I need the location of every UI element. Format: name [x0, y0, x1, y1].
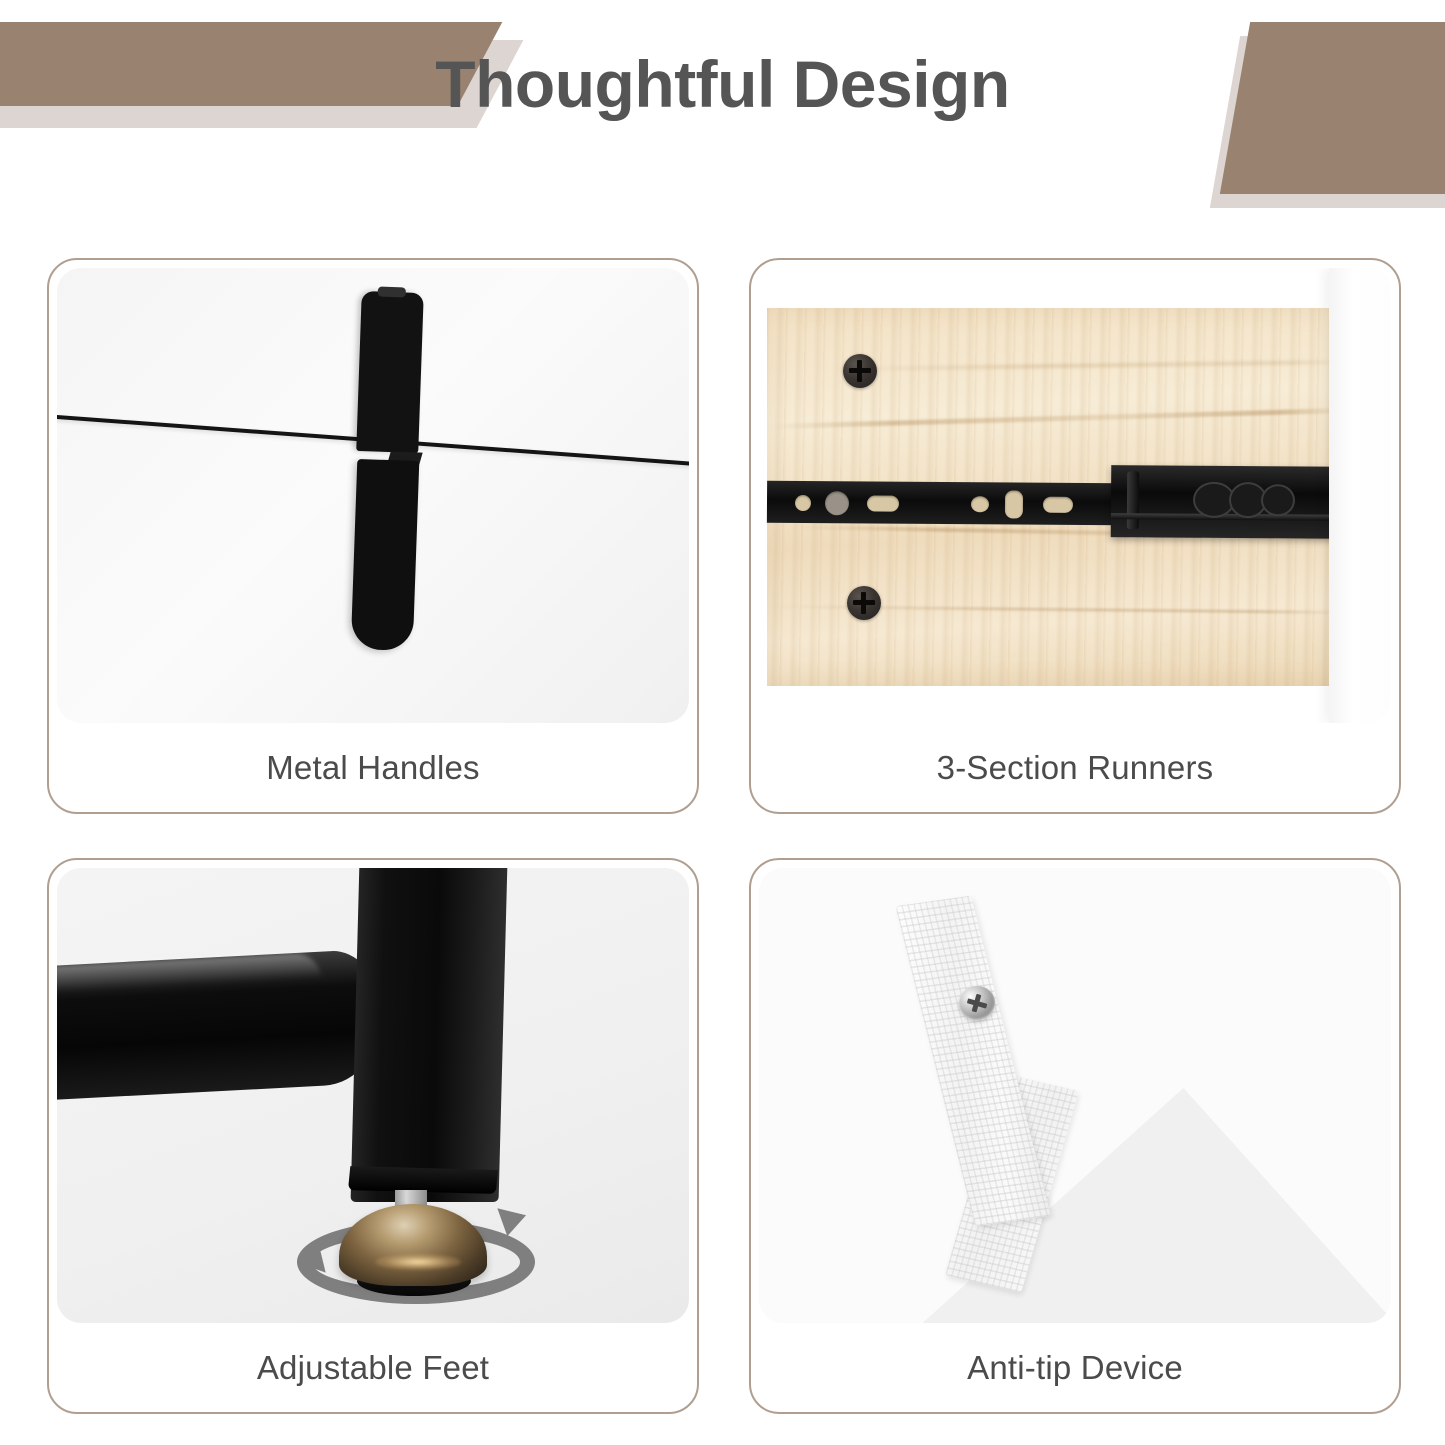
drawer-front-edge	[1329, 268, 1391, 723]
metal-handle-photo	[57, 268, 689, 723]
feature-card-caption: 3-Section Runners	[751, 723, 1399, 812]
feature-card-3-section-runners[interactable]: 3-Section Runners	[749, 258, 1401, 814]
drawer-runner-photo	[759, 268, 1391, 723]
page-title: Thoughtful Design	[0, 46, 1445, 122]
handle-lower-part-icon	[351, 459, 420, 651]
rail-hole	[795, 495, 811, 511]
runner-bearing	[1261, 484, 1295, 516]
runner-outer-rail	[1111, 465, 1363, 539]
furniture-leg	[351, 868, 508, 1202]
wood-grain-line	[767, 408, 1349, 429]
phillips-screw-icon	[847, 586, 881, 620]
rail-hole	[971, 496, 989, 512]
feature-card-caption: Adjustable Feet	[49, 1323, 697, 1412]
runner-inner-rail	[767, 481, 1119, 525]
rail-screw-hole	[825, 491, 849, 515]
foot-gloss-highlight	[375, 1254, 461, 1270]
feature-card-caption: Metal Handles	[49, 723, 697, 812]
runner-lock-tab	[1127, 471, 1139, 529]
rail-slot	[1043, 497, 1073, 513]
feature-card-grid: Metal Handles	[47, 258, 1401, 1413]
handle-upper-part-icon	[356, 291, 424, 453]
feature-card-adjustable-feet[interactable]: Adjustable Feet	[47, 858, 699, 1414]
anti-tip-strap-upper	[895, 896, 1051, 1227]
phillips-screw-icon	[843, 354, 877, 388]
feature-card-caption: Anti-tip Device	[751, 1323, 1399, 1412]
feature-card-metal-handles[interactable]: Metal Handles	[47, 258, 699, 814]
brass-levelling-foot	[339, 1204, 487, 1286]
page-header: Thoughtful Design	[0, 0, 1445, 232]
rail-slot	[867, 495, 899, 511]
rail-slot	[1005, 490, 1023, 518]
adjustable-foot-photo	[57, 868, 689, 1323]
feature-card-anti-tip-device[interactable]: Anti-tip Device	[749, 858, 1401, 1414]
anti-tip-strap-photo	[759, 868, 1391, 1323]
